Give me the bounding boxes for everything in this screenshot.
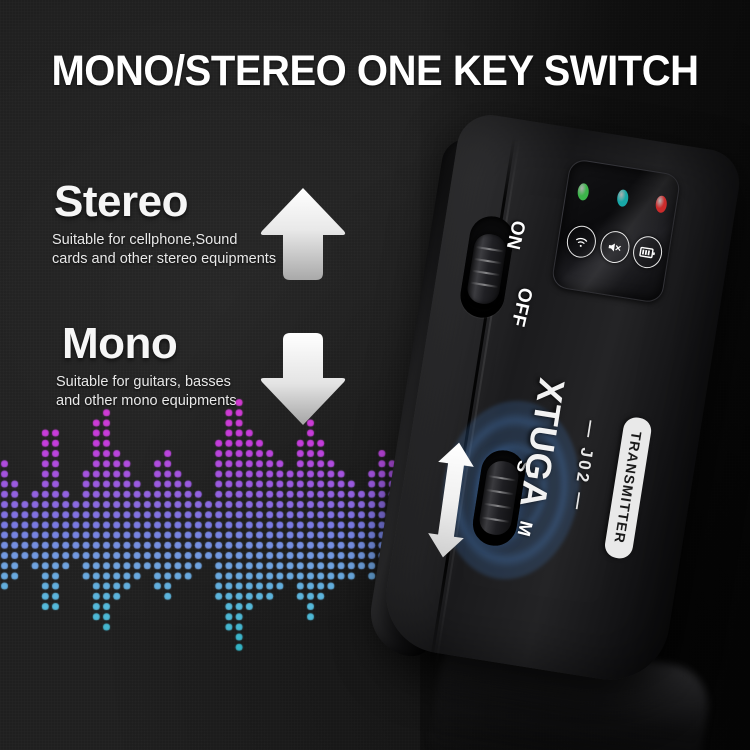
stereo-subtitle: Suitable for cellphone,Sound cards and o… <box>52 231 276 269</box>
mono-heading: Mono <box>62 320 237 368</box>
led-green <box>577 183 589 201</box>
battery-icon[interactable] <box>631 234 665 270</box>
transmitter-device: ON OFF S M XTUGA — J02 — TR <box>405 120 750 740</box>
mono-subtitle-line1: Suitable for guitars, basses <box>56 373 237 392</box>
signal-icon[interactable] <box>565 224 599 260</box>
product-promo-image: MONO/STEREO ONE KEY SWITCH Stereo Suitab… <box>0 0 750 750</box>
mute-icon[interactable] <box>598 229 632 265</box>
led-red <box>655 195 667 213</box>
page-title: MONO/STEREO ONE KEY SWITCH <box>26 46 724 96</box>
stereo-subtitle-line1: Suitable for cellphone,Sound <box>52 231 276 250</box>
stereo-heading: Stereo <box>54 178 276 226</box>
feature-block-stereo: Stereo Suitable for cellphone,Sound card… <box>52 178 276 269</box>
device-display-panel <box>551 158 682 304</box>
arrow-up-icon <box>258 185 348 283</box>
stereo-subtitle-line2: cards and other stereo equipments <box>52 250 276 269</box>
led-teal <box>616 189 628 207</box>
